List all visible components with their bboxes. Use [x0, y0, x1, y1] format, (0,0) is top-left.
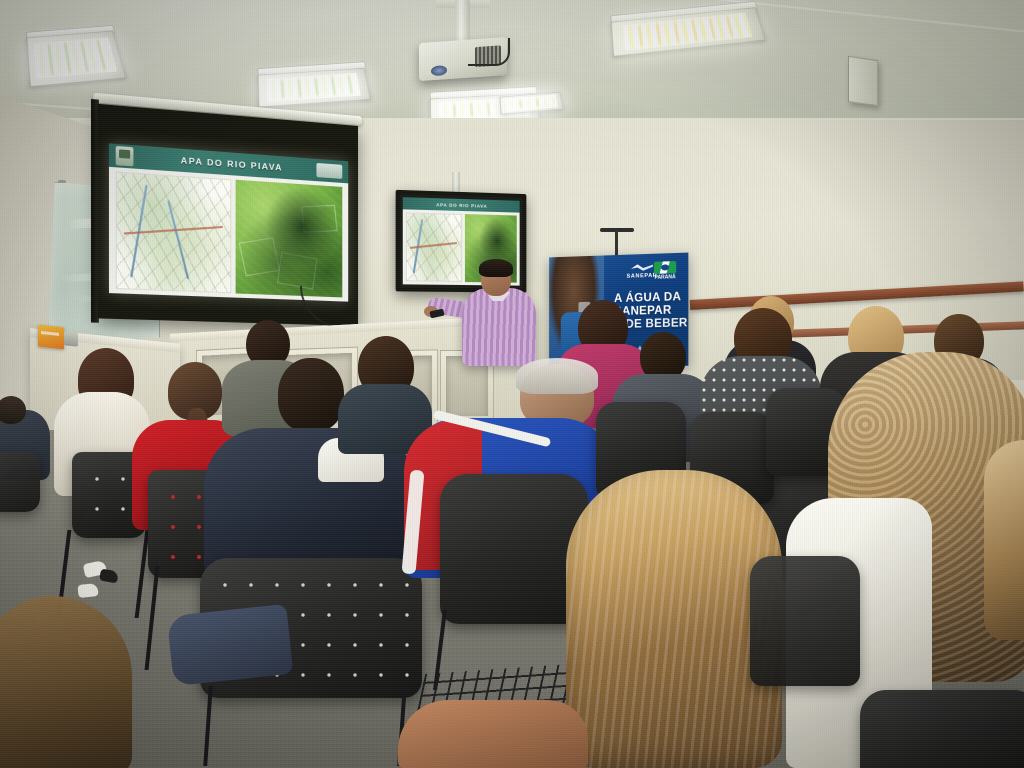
shoulder	[398, 700, 588, 768]
parcel-outline	[277, 252, 317, 289]
slide-content	[109, 167, 348, 302]
satellite-map-image	[236, 180, 343, 298]
meeting-room-photo: APA DO RIO PIAVA APA DO RIO PI	[0, 0, 1024, 768]
slide-title: APA DO RIO PIAVA	[181, 155, 283, 173]
parana-logo-text: PARANÁ	[654, 274, 675, 281]
projected-slide: APA DO RIO PIAVA	[109, 143, 348, 301]
banner-headline-line1: A ÁGUA DA	[614, 291, 688, 306]
coat-of-arms-icon	[116, 146, 134, 166]
banner-pole	[615, 230, 618, 258]
chair-legs	[203, 686, 407, 766]
parana-logo: PARANÁ	[648, 261, 682, 286]
chair[interactable]	[750, 556, 860, 686]
wall-speaker	[848, 56, 878, 106]
chair[interactable]	[0, 452, 40, 512]
projector-cable	[468, 38, 510, 66]
right-wall-shading	[784, 120, 1024, 380]
tv-topographic-map	[406, 212, 462, 282]
counter-item	[64, 331, 78, 346]
parana-flag-icon	[654, 261, 676, 274]
orange-cardboard-box	[38, 325, 64, 350]
troffer-lamp	[34, 37, 117, 78]
parcel-outline	[301, 205, 337, 233]
river-line	[167, 200, 189, 278]
sanepar-logo-icon	[316, 163, 342, 179]
projector-lens-icon	[431, 65, 447, 76]
hair	[984, 440, 1024, 640]
topographic-map-image	[116, 172, 232, 294]
fluorescent-troffer-1	[26, 31, 126, 87]
parcel-outline	[239, 238, 280, 277]
chair[interactable]	[860, 690, 1024, 768]
tv-slide-title: APA DO RIO PIAVA	[436, 202, 487, 209]
shoe	[77, 583, 98, 598]
tv-wall-mount	[452, 172, 460, 194]
presenter-hair	[479, 259, 513, 277]
